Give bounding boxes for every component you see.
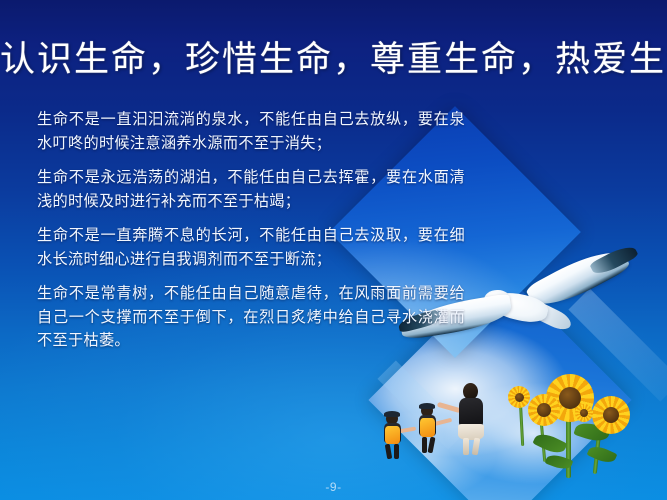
- sunflower-leaf: [532, 430, 567, 458]
- woman-arm: [437, 402, 461, 413]
- sunflower-leaf: [587, 443, 618, 466]
- child-figure-middle: [411, 404, 449, 456]
- sunflower-leaf: [545, 452, 574, 472]
- seagull-wingtip-right: [589, 242, 639, 279]
- backpack-icon: [385, 426, 400, 444]
- sunflower-stem: [519, 400, 524, 446]
- sunflower-center: [537, 403, 551, 417]
- child-leg: [394, 444, 399, 459]
- woman-head: [463, 383, 478, 400]
- child-torso: [384, 423, 401, 443]
- highlight-streak: [568, 288, 667, 401]
- woman-torso: [459, 398, 483, 428]
- sunflower-petals: [575, 404, 593, 422]
- sunflower-petals: [546, 374, 594, 422]
- sunflower-petals: [528, 394, 560, 426]
- slide-body-text: 生命不是一直汩汩流淌的泉水，不能任由自己去放纵，要在泉水叮咚的时候注意涵养水源而…: [37, 108, 465, 353]
- woman-leg: [472, 438, 481, 456]
- slide-canvas: 认识生命，珍惜生命，尊重生命，热爱生命 生命不是一直汩汩流淌的泉水，不能任由自己…: [0, 0, 667, 500]
- page-number: -9-: [0, 480, 667, 494]
- child-leg: [428, 437, 436, 454]
- child-arm: [398, 426, 416, 433]
- child-cap: [384, 411, 400, 417]
- highlight-streak: [377, 360, 466, 449]
- seagull-body: [488, 287, 551, 326]
- seagull-head: [484, 290, 510, 310]
- sunflower-stem: [566, 400, 571, 478]
- sunflower-stem: [593, 412, 603, 474]
- woman-figure: [449, 383, 493, 455]
- body-paragraph-4: 生命不是常青树，不能任由自己随意虐待，在风雨面前需要给自己一个支撑而不至于倒下，…: [37, 282, 465, 353]
- sunflower-petals: [592, 396, 630, 434]
- slide-title: 认识生命，珍惜生命，尊重生命，热爱生命: [0, 38, 667, 82]
- sunflower-center: [580, 409, 588, 417]
- child-head: [421, 404, 433, 417]
- body-paragraph-2: 生命不是永远浩荡的湖泊，不能任由自己去挥霍，要在水面清浅的时候及时进行补充而不至…: [37, 166, 465, 213]
- sunflower-stem: [539, 410, 547, 462]
- body-paragraph-1: 生命不是一直汩汩流淌的泉水，不能任由自己去放纵，要在泉水叮咚的时候注意涵养水源而…: [37, 108, 465, 155]
- child-figure-left: [376, 412, 414, 462]
- woman-leg: [463, 438, 469, 455]
- child-head: [386, 412, 398, 425]
- sunflower-center: [559, 387, 581, 409]
- sunflower-center: [603, 407, 619, 423]
- seagull-wing-right: [525, 239, 632, 316]
- child-torso: [419, 415, 436, 436]
- child-leg: [422, 437, 427, 453]
- child-cap: [419, 403, 435, 409]
- sunflower-petals: [508, 386, 530, 408]
- child-arm: [433, 418, 452, 426]
- seagull-tail: [536, 303, 574, 333]
- woman-skirt: [458, 424, 484, 440]
- sunflower-center: [515, 393, 524, 402]
- sunflower-leaf: [573, 419, 610, 445]
- child-leg: [385, 444, 393, 460]
- backpack-icon: [420, 418, 435, 437]
- body-paragraph-3: 生命不是一直奔腾不息的长河，不能任由自己去汲取，要在细水长流时细心进行自我调剂而…: [37, 224, 465, 271]
